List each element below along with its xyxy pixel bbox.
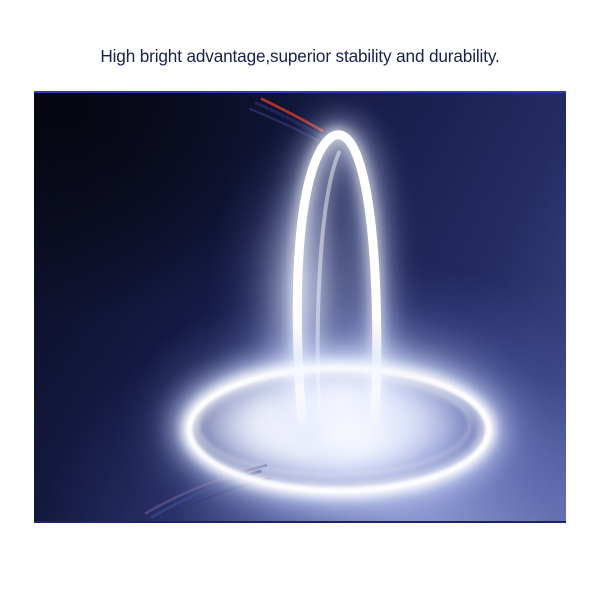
- page-title: High bright advantage,superior stability…: [0, 46, 600, 67]
- page-root: High bright advantage,superior stability…: [0, 0, 600, 600]
- product-photo: [34, 91, 566, 523]
- product-photo-canvas: [34, 93, 566, 521]
- lower-right-light-wash: [247, 328, 566, 521]
